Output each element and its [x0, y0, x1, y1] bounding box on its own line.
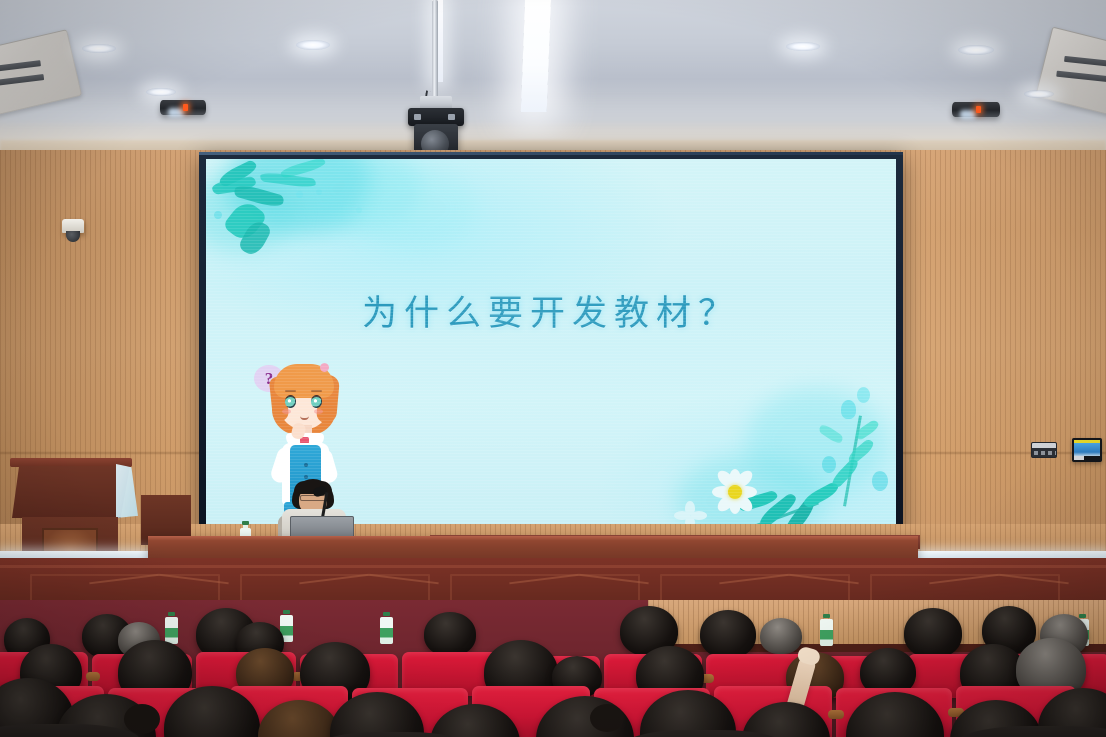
daisy-flowers-bottom-right-icon — [596, 346, 896, 531]
downlight — [296, 40, 330, 50]
water-bottle — [820, 614, 833, 646]
downlight — [146, 88, 176, 96]
presentation-slide: ? — [206, 159, 896, 531]
wall-security-camera — [62, 219, 84, 233]
slide-title: 为什么要开发教材？ — [206, 285, 896, 336]
hair-bun — [590, 704, 624, 732]
seat-armrest — [828, 710, 844, 719]
ceiling-speaker — [952, 102, 1000, 117]
downlight — [82, 44, 116, 53]
audience-head — [424, 612, 476, 656]
auditorium-photo: ? — [0, 0, 1106, 737]
audience-head — [700, 610, 756, 658]
audience-area — [0, 600, 1106, 737]
ceiling-speaker — [160, 100, 206, 115]
audience-head — [760, 618, 802, 654]
water-bottle — [165, 612, 178, 644]
water-bottle — [380, 612, 393, 644]
wall-control-panel[interactable] — [1031, 442, 1057, 458]
audience-head — [904, 608, 962, 658]
glasses-icon — [300, 495, 326, 501]
hair-bun — [124, 704, 160, 734]
seat-armrest — [86, 672, 100, 681]
fluorescent-strip-light — [521, 0, 552, 112]
downlight — [786, 42, 820, 51]
ceiling — [0, 0, 1106, 152]
downlight — [1024, 90, 1054, 98]
projector-mount-pole — [432, 0, 438, 100]
downlight — [958, 45, 994, 55]
wall-mounted-display[interactable] — [1072, 438, 1102, 462]
